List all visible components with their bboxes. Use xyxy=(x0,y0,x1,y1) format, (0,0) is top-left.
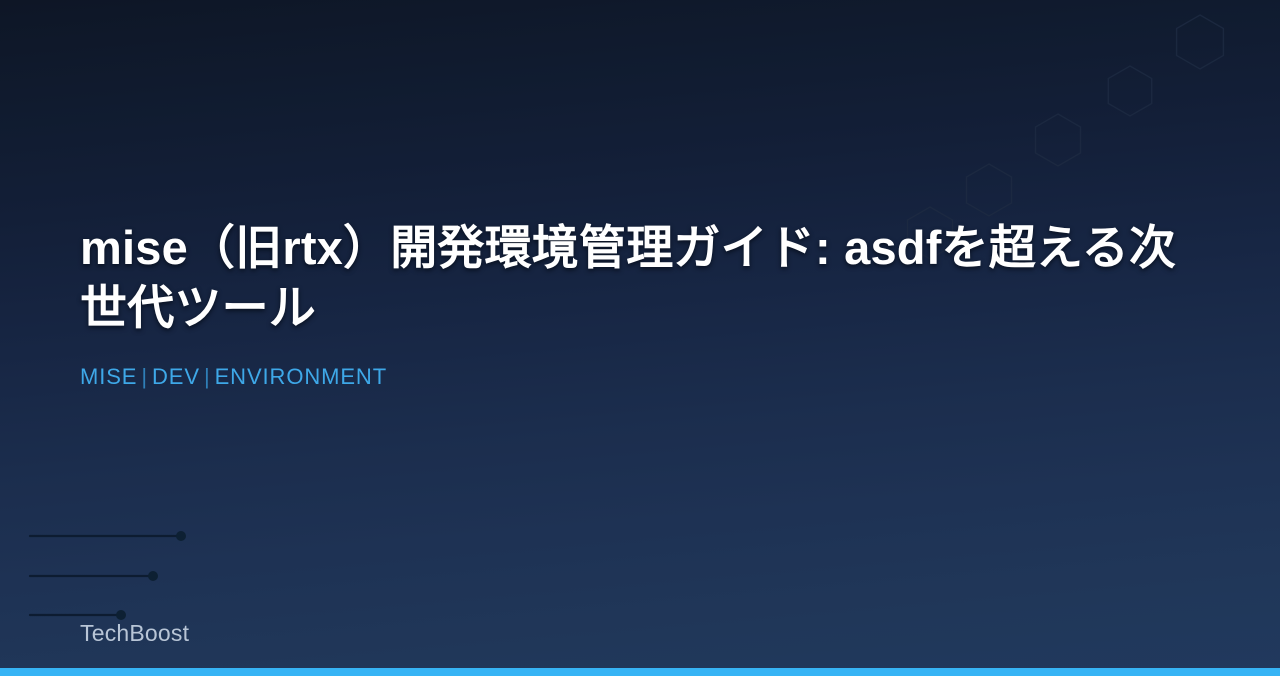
title-slide: mise（旧rtx）開発環境管理ガイド: asdfを超える次世代ツール MISE… xyxy=(0,0,1280,676)
tag-separator-2: | xyxy=(200,364,215,389)
tag-list: MISE|DEV|ENVIRONMENT xyxy=(80,364,387,390)
tag-mise: MISE xyxy=(80,364,137,389)
brand-label: TechBoost xyxy=(80,620,189,647)
hexagon-1-icon xyxy=(1177,15,1224,69)
tag-separator-1: | xyxy=(137,364,152,389)
tag-environment: ENVIRONMENT xyxy=(215,364,387,389)
hexagon-2-icon xyxy=(1108,66,1151,116)
hexagon-4-icon xyxy=(967,164,1012,216)
tag-dev: DEV xyxy=(152,364,200,389)
bottom-accent-bar xyxy=(0,668,1280,676)
trace-dot-3 xyxy=(116,610,126,620)
hexagon-3-icon xyxy=(1036,114,1081,166)
trace-dot-1 xyxy=(176,531,186,541)
trace-dot-2 xyxy=(148,571,158,581)
page-title: mise（旧rtx）開発環境管理ガイド: asdfを超える次世代ツール xyxy=(80,218,1200,338)
